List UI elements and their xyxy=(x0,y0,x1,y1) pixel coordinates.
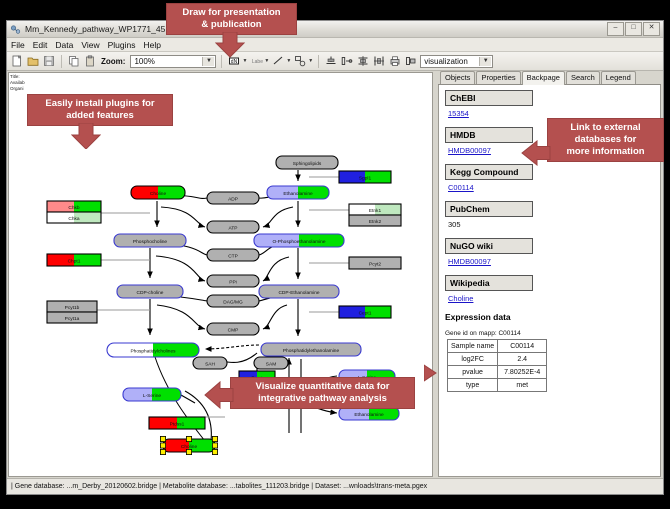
expr-key-sample: Sample name xyxy=(448,340,498,353)
chevron-down-icon[interactable]: ▼ xyxy=(479,57,491,66)
selection-handle[interactable] xyxy=(160,436,165,441)
node-label: PPi xyxy=(229,280,236,286)
table-row: log2FC 2.4 xyxy=(448,353,547,366)
selection-handle[interactable] xyxy=(186,436,191,441)
node-label: O-Phosphoethanolamine xyxy=(272,239,325,245)
selection-handle[interactable] xyxy=(212,443,217,448)
node-label: ATP xyxy=(229,226,238,232)
pathway-metabolite-node[interactable]: SAH xyxy=(193,357,227,369)
line-dropdown[interactable]: ▼ xyxy=(271,54,291,68)
table-row: type met xyxy=(448,379,547,392)
node-label: SAM xyxy=(266,362,276,368)
menu-item-file[interactable]: File xyxy=(11,40,25,50)
chevron-down-icon[interactable]: ▼ xyxy=(264,58,269,64)
menu-item-data[interactable]: Data xyxy=(55,40,73,50)
status-text: | Gene database: ...m_Derby_20120602.bri… xyxy=(11,483,427,490)
node-label: L-Serine xyxy=(143,393,161,399)
expr-val-pvalue: 7.80252E-4 xyxy=(498,366,547,379)
callout-links-line3: more information xyxy=(554,146,657,158)
side-panel-tabs: Objects Properties Backpage Search Legen… xyxy=(438,72,661,85)
line-icon[interactable] xyxy=(271,54,285,68)
svg-text:Label: Label xyxy=(252,59,263,65)
pathway-gene-node[interactable]: Chpt1 xyxy=(47,254,101,266)
db-link-wikipedia[interactable]: Choline xyxy=(448,294,654,303)
menu-bar: File Edit Data View Plugins Help xyxy=(7,38,663,52)
tab-properties[interactable]: Properties xyxy=(476,71,520,84)
node-label: Ethanolamine xyxy=(283,191,313,197)
callout-plugins-line2: added features xyxy=(34,110,166,122)
node-label: CDP-choline xyxy=(137,290,164,296)
db-link-chebi[interactable]: 15354 xyxy=(448,109,654,118)
pathway-gene-node[interactable]: Ptdss1 xyxy=(149,417,205,429)
callout-quantitative: Visualize quantitative data for integrat… xyxy=(230,377,415,409)
gene-id-on-mapp: Gene id on mapp: C00114 xyxy=(445,330,654,337)
node-label: Pcyt1b xyxy=(65,305,80,311)
toolbar-separator xyxy=(61,55,62,68)
menu-item-edit[interactable]: Edit xyxy=(33,40,48,50)
status-bar: | Gene database: ...m_Derby_20120602.bri… xyxy=(7,478,663,494)
svg-text:dN: dN xyxy=(231,59,238,65)
pathway-gene-node[interactable]: Chka xyxy=(47,212,101,223)
node-label: Pcyt1a xyxy=(65,316,80,322)
db-header-kegg: Kegg Compound xyxy=(445,164,533,180)
callout-plugins-arrow xyxy=(71,123,101,149)
node-label: Sgpl1 xyxy=(359,176,372,182)
tab-backpage[interactable]: Backpage xyxy=(522,71,565,85)
pathway-metabolite-node[interactable]: CDP-Ethanolamine xyxy=(259,285,339,298)
node-label: Pcyt2 xyxy=(369,262,381,268)
menu-item-help[interactable]: Help xyxy=(144,40,161,50)
screenshot-root: Mm_Kennedy_pathway_WP1771_45176.gpml – □… xyxy=(0,0,670,509)
table-row: pvalue 7.80252E-4 xyxy=(448,366,547,379)
new-file-icon[interactable] xyxy=(10,54,24,68)
node-label: Chka xyxy=(68,216,80,222)
callout-draw: Draw for presentation & publication xyxy=(166,3,297,35)
db-header-nugo: NuGO wiki xyxy=(445,238,533,254)
group-icon[interactable] xyxy=(340,54,354,68)
selection-handle[interactable] xyxy=(212,436,217,441)
shape-icon[interactable] xyxy=(293,54,307,68)
callout-quantitative-line1: Visualize quantitative data for xyxy=(237,381,408,393)
node-label: Ethanolamine xyxy=(354,412,384,418)
pathway-gene-node[interactable]: Sgpl1 xyxy=(339,171,391,183)
pathway-metabolite-node[interactable]: PPi xyxy=(207,275,259,287)
callout-links-line1: Link to external xyxy=(554,122,657,134)
pathway-metabolite-node[interactable]: Choline xyxy=(160,436,217,454)
pathway-metabolite-node[interactable]: ADP xyxy=(207,192,259,204)
title-bar: Mm_Kennedy_pathway_WP1771_45176.gpml – □… xyxy=(7,21,663,38)
node-label: Chkb xyxy=(68,205,80,211)
db-header-hmdb: HMDB xyxy=(445,127,533,143)
callout-plugins-line1: Easily install plugins for xyxy=(34,98,166,110)
pathway-metabolite-node[interactable]: SAM xyxy=(254,357,288,369)
node-label: Chpt1 xyxy=(68,259,81,265)
pathway-metabolite-node[interactable]: CDP-choline xyxy=(117,285,183,298)
chevron-down-icon[interactable]: ▼ xyxy=(202,57,214,66)
pathway-metabolite-node[interactable]: Ethanolamine xyxy=(267,186,329,199)
label-icon[interactable]: Label xyxy=(249,54,263,68)
node-label: CTP xyxy=(228,254,238,260)
node-label: Sphingolipids xyxy=(293,161,322,167)
tab-objects[interactable]: Objects xyxy=(440,71,475,84)
expr-key-type: type xyxy=(448,379,498,392)
node-label: Choline xyxy=(150,191,167,197)
shape-dropdown[interactable]: ▼ xyxy=(293,54,313,68)
maximize-button[interactable]: □ xyxy=(625,22,642,36)
selection-handle[interactable] xyxy=(212,449,217,454)
db-link-kegg[interactable]: C00114 xyxy=(448,183,654,192)
pathway-metabolite-node[interactable]: Choline xyxy=(131,186,185,199)
pathway-metabolite-node[interactable]: ATP xyxy=(207,221,259,233)
stack-icon[interactable] xyxy=(356,54,370,68)
pathway-metabolite-node[interactable]: DAG/MG xyxy=(207,295,259,307)
callout-draw-line1: Draw for presentation xyxy=(173,7,290,19)
pathway-metabolite-node[interactable]: CMP xyxy=(207,323,259,335)
pathway-metabolite-node[interactable]: Phosphocholine xyxy=(114,234,186,247)
node-label: CDP-Ethanolamine xyxy=(278,290,319,296)
node-label: SAH xyxy=(205,362,215,368)
pathway-gene-node[interactable]: Pcyt1a xyxy=(47,312,97,323)
order-icon[interactable] xyxy=(404,54,418,68)
distribute-icon[interactable] xyxy=(372,54,386,68)
zoom-label: Zoom: xyxy=(101,57,125,66)
tool-bar: Zoom: 100% ▼ dN ▼ Label ▼ ▼ ▼ xyxy=(7,52,663,71)
pathvisio-window: Mm_Kennedy_pathway_WP1771_45176.gpml – □… xyxy=(6,20,664,495)
zoom-value: 100% xyxy=(134,57,154,66)
node-label: Cept1 xyxy=(359,311,372,317)
chevron-down-icon[interactable]: ▼ xyxy=(308,58,313,64)
app-icon xyxy=(10,24,21,35)
node-label: CMP xyxy=(228,328,239,334)
chevron-down-icon[interactable]: ▼ xyxy=(242,58,247,64)
close-button[interactable]: ✕ xyxy=(643,22,660,36)
expression-data-title: Expression data xyxy=(445,312,654,322)
open-folder-icon[interactable] xyxy=(26,54,40,68)
align-icon[interactable] xyxy=(324,54,338,68)
pathway-metabolite-node[interactable]: Sphingolipids xyxy=(276,156,338,169)
visualization-combo[interactable]: visualization ▼ xyxy=(420,55,493,68)
expr-val-sample: C00114 xyxy=(498,340,547,353)
table-row: Sample name C00114 xyxy=(448,340,547,353)
pathway-gene-node[interactable]: Pcyt1b xyxy=(47,301,97,312)
pathway-metabolite-node[interactable]: CTP xyxy=(207,249,259,261)
pathway-metabolite-node[interactable]: L-Serine xyxy=(123,388,181,401)
tab-search[interactable]: Search xyxy=(566,71,600,84)
expression-table: Sample name C00114 log2FC 2.4 pvalue 7.8… xyxy=(447,339,547,392)
print-icon[interactable] xyxy=(388,54,402,68)
pathway-gene-node[interactable]: Etnk2 xyxy=(349,215,401,226)
pathway-gene-node[interactable]: Chkb xyxy=(47,201,101,212)
node-label: Phosphatidylethanolamine xyxy=(283,348,340,354)
node-label: DAG/MG xyxy=(223,300,243,306)
zoom-combo[interactable]: 100% ▼ xyxy=(130,55,216,68)
pathway-canvas[interactable]: Title: Availab Organi xyxy=(8,72,433,477)
db-value-pubchem: 305 xyxy=(448,220,654,229)
pathway-metabolite-node[interactable]: Phosphatidylcholines xyxy=(107,343,199,357)
copy-icon[interactable] xyxy=(67,54,81,68)
pathway-metabolite-node[interactable]: Phosphatidylethanolamine xyxy=(261,343,361,356)
window-buttons: – □ ✕ xyxy=(607,22,660,36)
chevron-down-icon[interactable]: ▼ xyxy=(286,58,291,64)
node-label: Etnk1 xyxy=(369,208,382,214)
selection-handle[interactable] xyxy=(186,449,191,454)
node-label: ADP xyxy=(228,197,238,203)
node-label: Etnk2 xyxy=(369,219,382,225)
pathway-nodes: SphingolipidsCholineEthanolaminePhosphoc… xyxy=(47,156,401,455)
selection-handle[interactable] xyxy=(160,449,165,454)
db-header-chebi: ChEBI xyxy=(445,90,533,106)
save-icon[interactable] xyxy=(42,54,56,68)
menu-item-plugins[interactable]: Plugins xyxy=(108,40,136,50)
callout-draw-line2: & publication xyxy=(173,19,290,31)
pathway-metabolite-node[interactable]: O-Phosphoethanolamine xyxy=(254,234,344,247)
db-header-wikipedia: Wikipedia xyxy=(445,275,533,291)
menu-item-view[interactable]: View xyxy=(81,40,99,50)
callout-expression-arrow xyxy=(424,364,438,382)
expr-val-type: met xyxy=(498,379,547,392)
callout-plugins: Easily install plugins for added feature… xyxy=(27,94,173,126)
callout-draw-arrow xyxy=(215,32,245,58)
node-label: Phosphatidylcholines xyxy=(130,349,176,355)
visualization-value: visualization xyxy=(424,57,468,66)
label-dropdown[interactable]: Label ▼ xyxy=(249,54,269,68)
callout-quantitative-arrow xyxy=(204,381,234,409)
expr-key-pvalue: pvalue xyxy=(448,366,498,379)
minimize-button[interactable]: – xyxy=(607,22,624,36)
db-header-pubchem: PubChem xyxy=(445,201,533,217)
tab-legend[interactable]: Legend xyxy=(601,71,636,84)
pathway-gene-node[interactable]: Etnk1 xyxy=(349,204,401,215)
pathway-gene-node[interactable]: Pcyt2 xyxy=(349,257,401,269)
selection-handle[interactable] xyxy=(160,443,165,448)
callout-links-line2: databases for xyxy=(554,134,657,146)
expr-key-log2fc: log2FC xyxy=(448,353,498,366)
node-label: Ptdss1 xyxy=(170,422,185,428)
callout-links-arrow xyxy=(521,140,551,166)
paste-icon[interactable] xyxy=(83,54,97,68)
toolbar-separator xyxy=(318,55,319,68)
callout-links: Link to external databases for more info… xyxy=(547,118,664,162)
callout-quantitative-line2: integrative pathway analysis xyxy=(237,393,408,405)
db-link-nugo[interactable]: HMDB00097 xyxy=(448,257,654,266)
expr-val-log2fc: 2.4 xyxy=(498,353,547,366)
node-label: Phosphocholine xyxy=(133,239,167,245)
pathway-gene-node[interactable]: Cept1 xyxy=(339,306,391,318)
